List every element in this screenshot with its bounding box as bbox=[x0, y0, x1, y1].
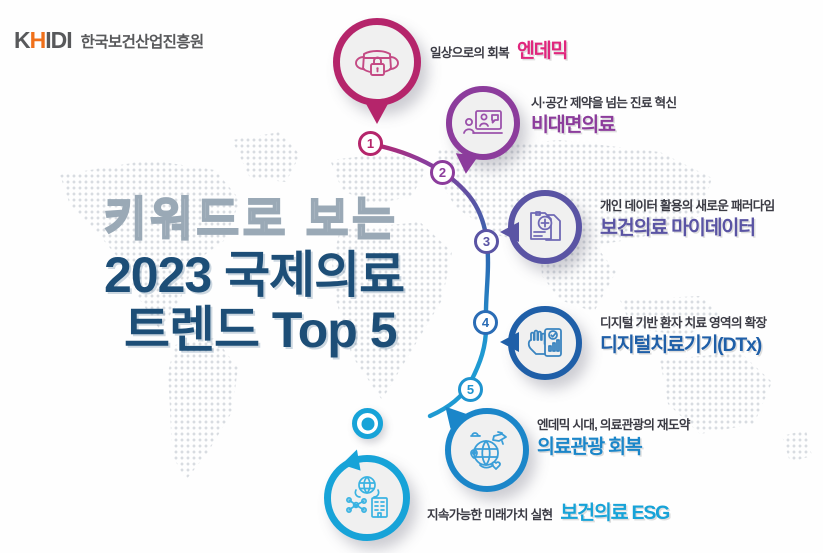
medical-record-document-icon bbox=[522, 204, 568, 250]
trend-6-text: 지속가능한 미래가치 실현 보건의료 ESG bbox=[427, 503, 669, 524]
trend-4-bubble-tail bbox=[500, 332, 519, 352]
trend-3-bubble-tail bbox=[500, 222, 519, 242]
step-marker-3-number: 3 bbox=[483, 235, 490, 248]
step-marker-4: 4 bbox=[473, 310, 498, 335]
esg-ring-marker bbox=[352, 408, 383, 439]
trend-6-bubble[interactable] bbox=[324, 455, 410, 541]
trend-1-text: 일상으로의 회복 엔데믹 bbox=[430, 41, 567, 62]
trend-1-subtitle: 일상으로의 회복 bbox=[430, 47, 509, 61]
globe-airplane-travel-icon bbox=[460, 423, 514, 477]
khidi-logo: KHIDI 한국보건산업진흥원 bbox=[14, 29, 204, 52]
trend-4-text: 디지털 기반 환자 치료 영역의 확장 디지털치료기기(DTx) bbox=[600, 317, 766, 356]
headline-line-2: 2023 국제의료 bbox=[104, 249, 404, 302]
logo-letters-idi: IDI bbox=[45, 29, 71, 52]
logo-letter-h: H bbox=[30, 29, 46, 52]
step-marker-5: 5 bbox=[458, 377, 483, 402]
trend-node-1[interactable] bbox=[333, 18, 421, 106]
headline-line-1: 키워드로 보는 bbox=[104, 196, 404, 242]
step-marker-4-number: 4 bbox=[482, 316, 489, 329]
trend-1-bubble-tail bbox=[365, 102, 389, 124]
trend-3-keyword: 보건의료 마이데이터 bbox=[600, 218, 775, 239]
trend-3-bubble[interactable] bbox=[508, 190, 582, 264]
trend-2-text: 시·공간 제약을 넘는 진료 혁신 비대면의료 bbox=[531, 97, 676, 136]
trend-node-6[interactable] bbox=[324, 455, 410, 541]
trend-node-2[interactable] bbox=[446, 86, 520, 160]
hand-smartphone-chart-icon bbox=[522, 320, 568, 366]
trend-6-subtitle: 지속가능한 미래가치 실현 bbox=[427, 509, 552, 523]
mask-lock-icon bbox=[351, 36, 403, 88]
trend-5-subtitle: 엔데믹 시대, 의료관광의 재도약 bbox=[537, 419, 690, 433]
trend-1-bubble[interactable] bbox=[333, 18, 421, 106]
trend-3-text: 개인 데이터 활용의 새로운 패러다임 보건의료 마이데이터 bbox=[600, 200, 775, 239]
trend-5-text: 엔데믹 시대, 의료관광의 재도약 의료관광 회복 bbox=[537, 419, 690, 458]
khidi-wordmark: KHIDI bbox=[14, 29, 72, 52]
trend-4-bubble[interactable] bbox=[508, 306, 582, 380]
trend-2-bubble[interactable] bbox=[446, 86, 520, 160]
step-marker-1-number: 1 bbox=[367, 137, 374, 150]
trend-4-keyword: 디지털치료기기(DTx) bbox=[600, 335, 766, 356]
trend-2-keyword: 비대면의료 bbox=[531, 115, 676, 136]
step-marker-3: 3 bbox=[474, 229, 499, 254]
trend-1-keyword: 엔데믹 bbox=[517, 41, 567, 62]
headline-line-3: 트렌드 Top 5 bbox=[124, 304, 404, 357]
trend-2-subtitle: 시·공간 제약을 넘는 진료 혁신 bbox=[531, 97, 676, 111]
logo-organization-name: 한국보건산업진흥원 bbox=[81, 30, 204, 52]
telemedicine-screen-icon bbox=[460, 100, 506, 146]
trend-5-keyword: 의료관광 회복 bbox=[537, 437, 690, 458]
esg-ring-marker-core bbox=[361, 417, 374, 430]
step-marker-1: 1 bbox=[358, 131, 383, 156]
step-marker-5-number: 5 bbox=[467, 383, 474, 396]
trend-node-3[interactable] bbox=[508, 190, 582, 264]
trend-node-4[interactable] bbox=[508, 306, 582, 380]
page-title: 키워드로 보는 2023 국제의료 트렌드 Top 5 bbox=[104, 196, 404, 357]
trend-3-subtitle: 개인 데이터 활용의 새로운 패러다임 bbox=[600, 200, 775, 214]
step-marker-2-number: 2 bbox=[439, 166, 446, 179]
trend-node-5[interactable] bbox=[445, 408, 529, 492]
globe-leaf-building-network-icon bbox=[340, 471, 394, 525]
trend-6-keyword: 보건의료 ESG bbox=[560, 503, 669, 524]
logo-letter-k: K bbox=[14, 29, 30, 52]
infographic-canvas: KHIDI 한국보건산업진흥원 키워드로 보는 2023 국제의료 트렌드 To… bbox=[0, 0, 823, 553]
trend-4-subtitle: 디지털 기반 환자 치료 영역의 확장 bbox=[600, 317, 766, 331]
